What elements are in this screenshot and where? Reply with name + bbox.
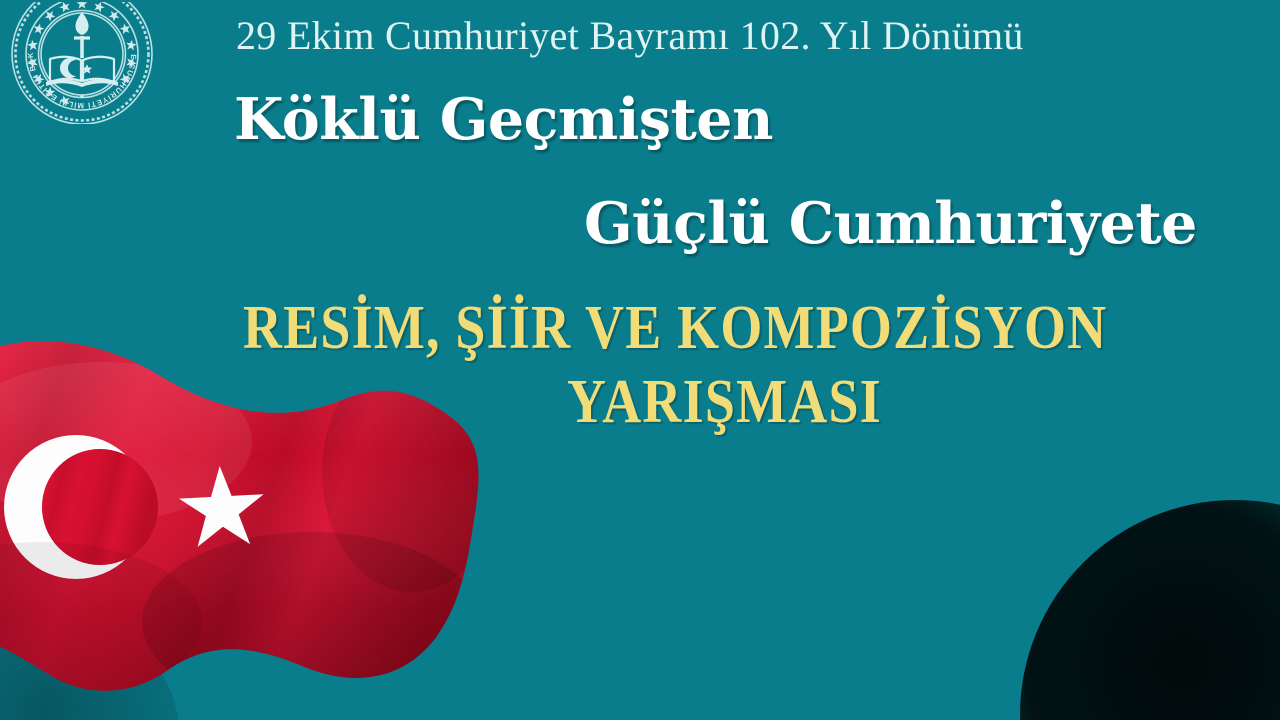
headline-line-1: Köklü Geçmişten [234,86,773,153]
poster-canvas: TÜRKİYE CUMHURİYETİ MİLLİ EĞİTİM BAKANLI… [0,0,1280,720]
text-layer: 29 Ekim Cumhuriyet Bayramı 102. Yıl Dönü… [0,0,1280,720]
headline-line-2: Güçlü Cumhuriyete [584,190,1197,257]
subtitle-line-1: RESİM, ŞİİR VE KOMPOZİSYON [243,291,1107,363]
anniversary-kicker: 29 Ekim Cumhuriyet Bayramı 102. Yıl Dönü… [236,12,1024,59]
subtitle-line-2: YARIŞMASI [567,365,882,437]
